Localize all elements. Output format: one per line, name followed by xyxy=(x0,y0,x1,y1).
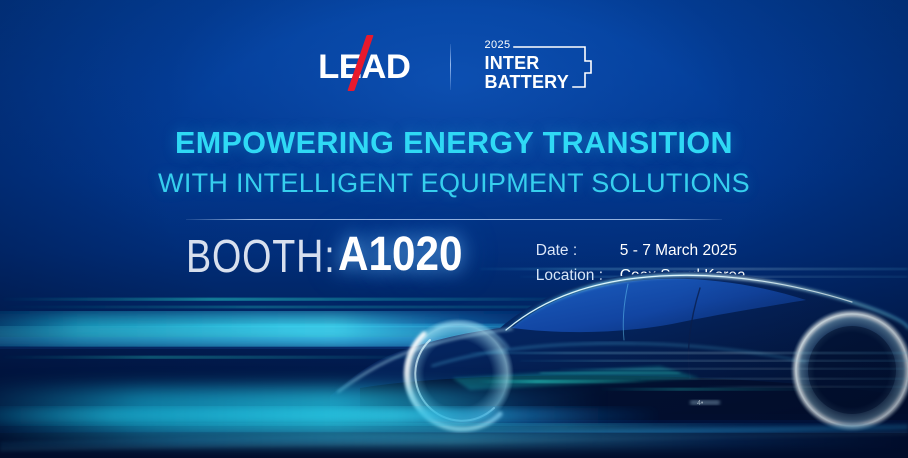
interbattery-line2: BATTERY xyxy=(485,73,569,91)
lead-logo: LEAD xyxy=(310,39,420,95)
logo-row: LEAD 2025 INTER BATTERY xyxy=(0,38,908,96)
logo-divider xyxy=(450,44,451,90)
headline-primary: EMPOWERING ENERGY TRANSITION xyxy=(0,126,908,161)
car-illustration-svg: 4• xyxy=(0,228,908,458)
promotional-banner: LEAD 2025 INTER BATTERY EMPOWERING ENERG… xyxy=(0,0,908,458)
interbattery-year: 2025 xyxy=(485,40,511,51)
interbattery-logo: 2025 INTER BATTERY xyxy=(481,39,599,95)
horizontal-divider xyxy=(186,219,722,220)
headline-secondary: WITH INTELLIGENT EQUIPMENT SOLUTIONS xyxy=(0,168,908,199)
interbattery-line1: INTER xyxy=(485,54,540,72)
svg-text:4•: 4• xyxy=(697,400,704,407)
car-artwork: 4• xyxy=(0,228,908,458)
